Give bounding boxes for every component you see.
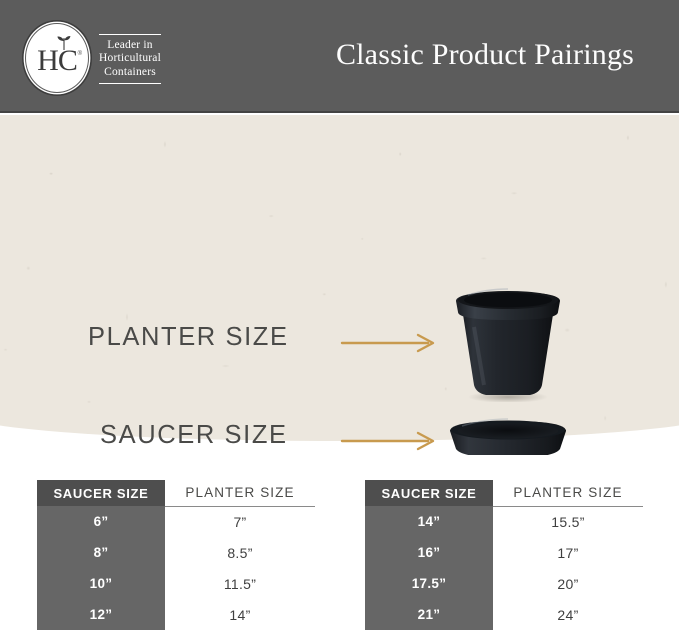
table-row: 14” 15.5”	[365, 506, 643, 537]
hero-background	[0, 115, 679, 441]
table-row: 6” 7”	[37, 506, 315, 537]
table-row: 17.5” 20”	[365, 568, 643, 599]
column-header-saucer-size: SAUCER SIZE	[37, 480, 165, 506]
table-header-row: SAUCER SIZE PLANTER SIZE	[365, 480, 643, 506]
black-planter-pot-image	[444, 285, 572, 402]
size-tables-section: SAUCER SIZE PLANTER SIZE 6” 7” 8” 8.5” 1…	[0, 480, 679, 636]
table-row: 8” 8.5”	[37, 537, 315, 568]
cell-saucer-size: 17.5”	[365, 568, 493, 599]
table-row: 10” 11.5”	[37, 568, 315, 599]
table-header-row: SAUCER SIZE PLANTER SIZE	[37, 480, 315, 506]
header-bar: HC ® Leader in Horticultural Containers …	[0, 0, 679, 113]
logo-tagline-line-2: Horticultural	[99, 52, 161, 66]
logo-monogram: HC	[22, 21, 92, 95]
logo-rule-top	[99, 34, 161, 35]
table-row: 12” 14”	[37, 599, 315, 630]
column-header-saucer-size: SAUCER SIZE	[365, 480, 493, 506]
cell-planter-size: 15.5”	[493, 506, 643, 537]
cell-saucer-size: 16”	[365, 537, 493, 568]
logo-tagline-line-1: Leader in	[99, 39, 161, 53]
cell-saucer-size: 8”	[37, 537, 165, 568]
cell-planter-size: 7”	[165, 506, 315, 537]
cell-planter-size: 20”	[493, 568, 643, 599]
arrow-right-saucer-icon	[340, 429, 438, 453]
hero-label-saucer-size: SAUCER SIZE	[100, 421, 288, 450]
logo-tagline-line-3: Containers	[99, 66, 161, 80]
brand-logo: HC ® Leader in Horticultural Containers	[22, 20, 187, 96]
table-row: 21” 24”	[365, 599, 643, 630]
cell-planter-size: 17”	[493, 537, 643, 568]
cell-saucer-size: 21”	[365, 599, 493, 630]
logo-rule-bottom	[99, 83, 161, 84]
table-row: 16” 17”	[365, 537, 643, 568]
column-header-planter-size: PLANTER SIZE	[493, 480, 643, 506]
size-table-right: SAUCER SIZE PLANTER SIZE 14” 15.5” 16” 1…	[365, 480, 643, 630]
cell-planter-size: 11.5”	[165, 568, 315, 599]
infographic-page: HC ® Leader in Horticultural Containers …	[0, 0, 679, 636]
cell-planter-size: 24”	[493, 599, 643, 630]
size-table-left: SAUCER SIZE PLANTER SIZE 6” 7” 8” 8.5” 1…	[37, 480, 315, 630]
black-saucer-tray-image	[444, 415, 572, 455]
arrow-right-planter-icon	[340, 331, 438, 355]
cell-saucer-size: 12”	[37, 599, 165, 630]
cell-planter-size: 8.5”	[165, 537, 315, 568]
column-header-planter-size: PLANTER SIZE	[165, 480, 315, 506]
page-title: Classic Product Pairings	[305, 38, 665, 72]
logo-trademark: ®	[78, 51, 82, 57]
hero-panel: PLANTER SIZE SAUCER SIZE	[0, 115, 679, 455]
cell-planter-size: 14”	[165, 599, 315, 630]
cell-saucer-size: 10”	[37, 568, 165, 599]
logo-badge-icon: HC ®	[22, 21, 92, 95]
logo-tagline: Leader in Horticultural Containers	[99, 29, 161, 88]
cell-saucer-size: 14”	[365, 506, 493, 537]
hero-label-planter-size: PLANTER SIZE	[88, 323, 289, 352]
cell-saucer-size: 6”	[37, 506, 165, 537]
